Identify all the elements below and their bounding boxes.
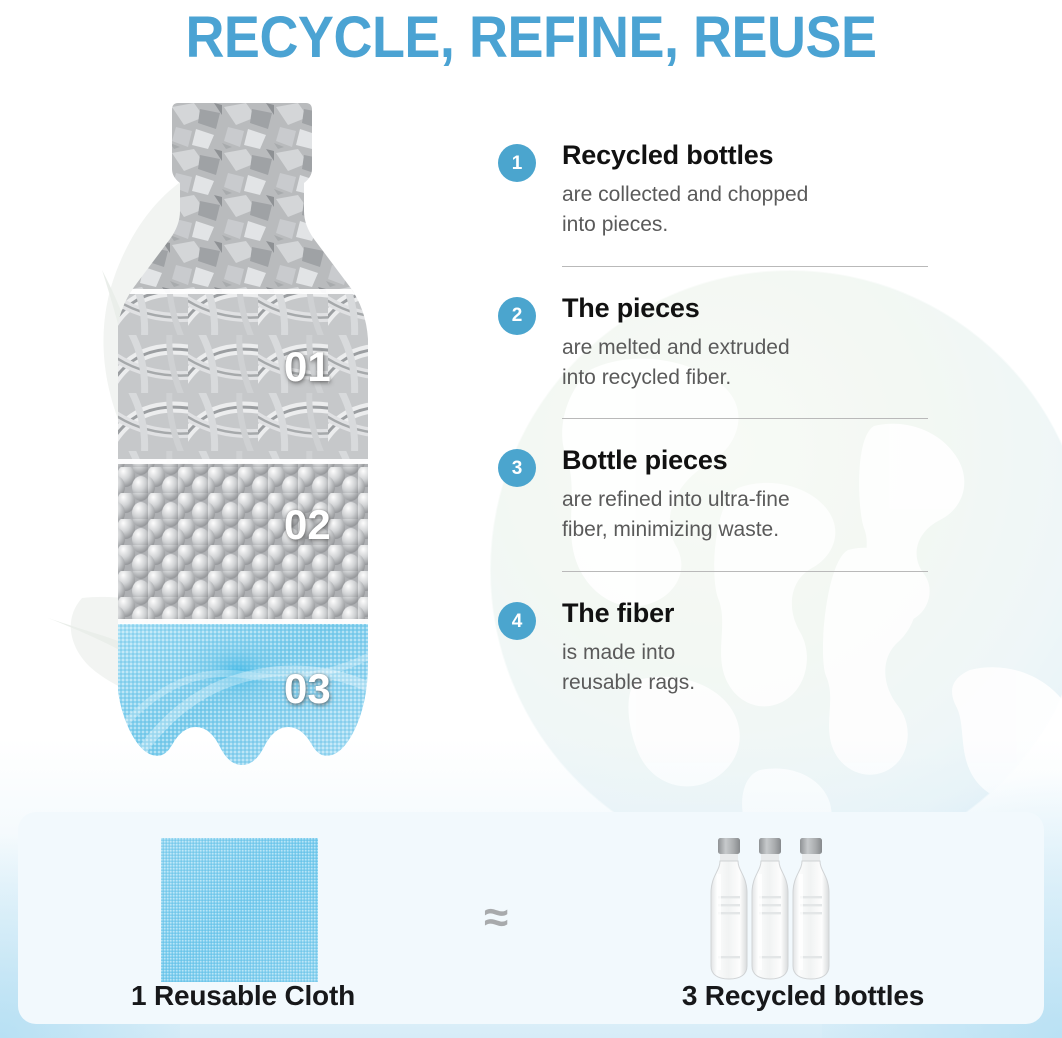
- step-badge-1: 1: [498, 144, 536, 182]
- step-badge-3: 3: [498, 449, 536, 487]
- step-desc-4: is made into reusable rags.: [562, 638, 928, 698]
- bottle-silhouette-icon: [118, 103, 384, 793]
- step-item-4: 4 The fiber is made into reusable rags.: [498, 598, 928, 698]
- steps-list: 1 Recycled bottles are collected and cho…: [498, 140, 928, 698]
- bottle-diagram: 01 02 03 04: [118, 103, 384, 793]
- step-desc-2: are melted and extruded into recycled fi…: [562, 333, 928, 393]
- step-item-1: 1 Recycled bottles are collected and cho…: [498, 140, 928, 240]
- comparison-panel: ≈: [18, 812, 1044, 1024]
- approximately-equal-icon: ≈: [484, 896, 508, 940]
- step-badge-2: 2: [498, 297, 536, 335]
- step-desc-3: are refined into ultra-fine fiber, minim…: [562, 485, 928, 545]
- step-title-2: The pieces: [562, 293, 928, 324]
- infographic-canvas: RECYCLE, REFINE, REUSE: [0, 0, 1062, 1038]
- step-badge-4: 4: [498, 602, 536, 640]
- three-bottles-image: [708, 834, 863, 982]
- title-area: RECYCLE, REFINE, REUSE: [0, 4, 1062, 71]
- comparison-left-label: 1 Reusable Cloth: [18, 980, 468, 1012]
- cloth-swatch-image: [161, 838, 318, 982]
- page-title: RECYCLE, REFINE, REUSE: [37, 4, 1025, 71]
- step-item-2: 2 The pieces are melted and extruded int…: [498, 293, 928, 393]
- step-item-3: 3 Bottle pieces are refined into ultra-f…: [498, 445, 928, 545]
- step-title-3: Bottle pieces: [562, 445, 928, 476]
- step-title-1: Recycled bottles: [562, 140, 928, 171]
- step-desc-1: are collected and chopped into pieces.: [562, 180, 928, 240]
- step-divider-1: [562, 266, 928, 267]
- comparison-right-label: 3 Recycled bottles: [578, 980, 1028, 1012]
- step-title-4: The fiber: [562, 598, 928, 629]
- step-divider-3: [562, 571, 928, 572]
- step-divider-2: [562, 418, 928, 419]
